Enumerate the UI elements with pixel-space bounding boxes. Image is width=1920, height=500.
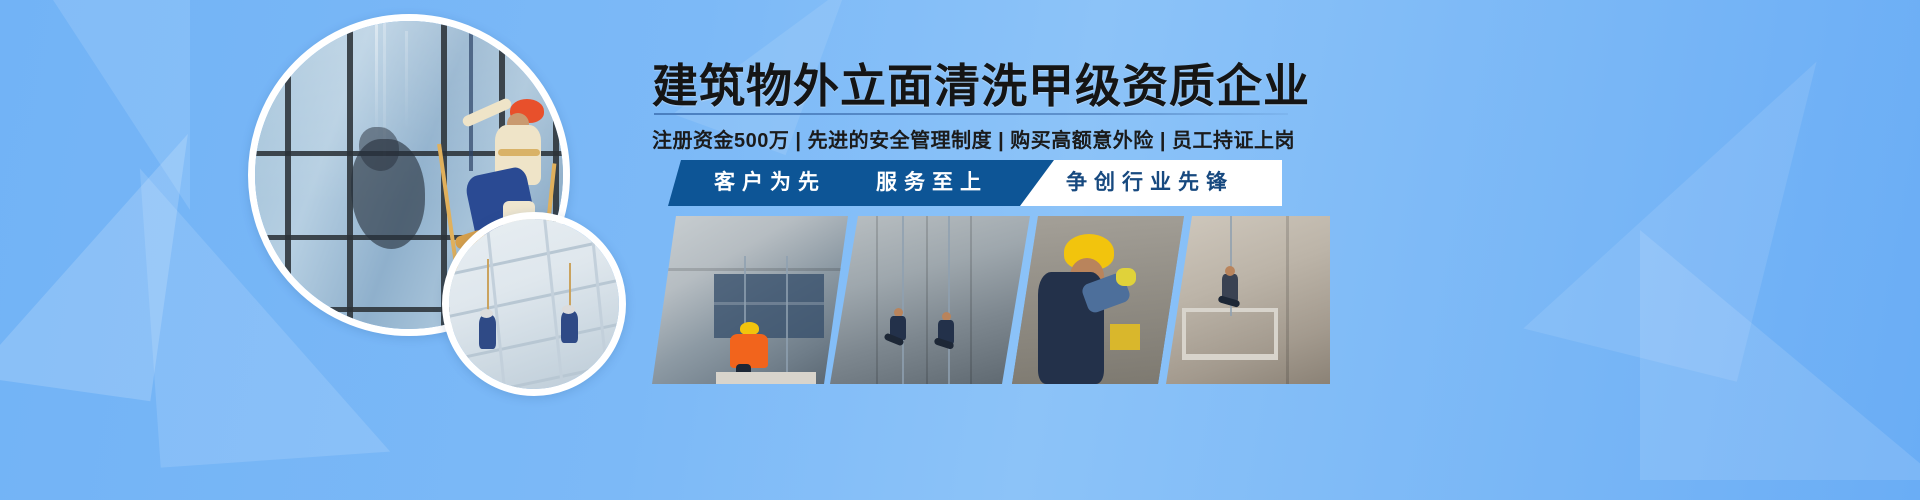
slogan-3: 争创行业先锋 xyxy=(1066,160,1234,206)
photo-strip xyxy=(652,216,1330,384)
slogan-1: 客户为先 xyxy=(714,160,826,206)
headline-underline xyxy=(654,113,1288,115)
strip-photo-1 xyxy=(652,216,848,384)
slogan-ribbon: 客户为先 服务至上 争创行业先锋 xyxy=(668,160,1282,206)
slogan-2: 服务至上 xyxy=(876,160,988,206)
strip-photo-3 xyxy=(1012,216,1184,384)
strip-photo-2 xyxy=(830,216,1030,384)
promotional-banner: 建筑物外立面清洗甲级资质企业 注册资金500万 | 先进的安全管理制度 | 购买… xyxy=(0,0,1920,500)
subline: 注册资金500万 | 先进的安全管理制度 | 购买高额意外险 | 员工持证上岗 xyxy=(652,124,1295,153)
headline: 建筑物外立面清洗甲级资质企业 xyxy=(652,50,1310,116)
circle-photo-small xyxy=(442,212,626,396)
background-triangle-6 xyxy=(1640,230,1920,480)
metal-facade-image xyxy=(449,219,619,389)
strip-photo-4 xyxy=(1166,216,1330,384)
